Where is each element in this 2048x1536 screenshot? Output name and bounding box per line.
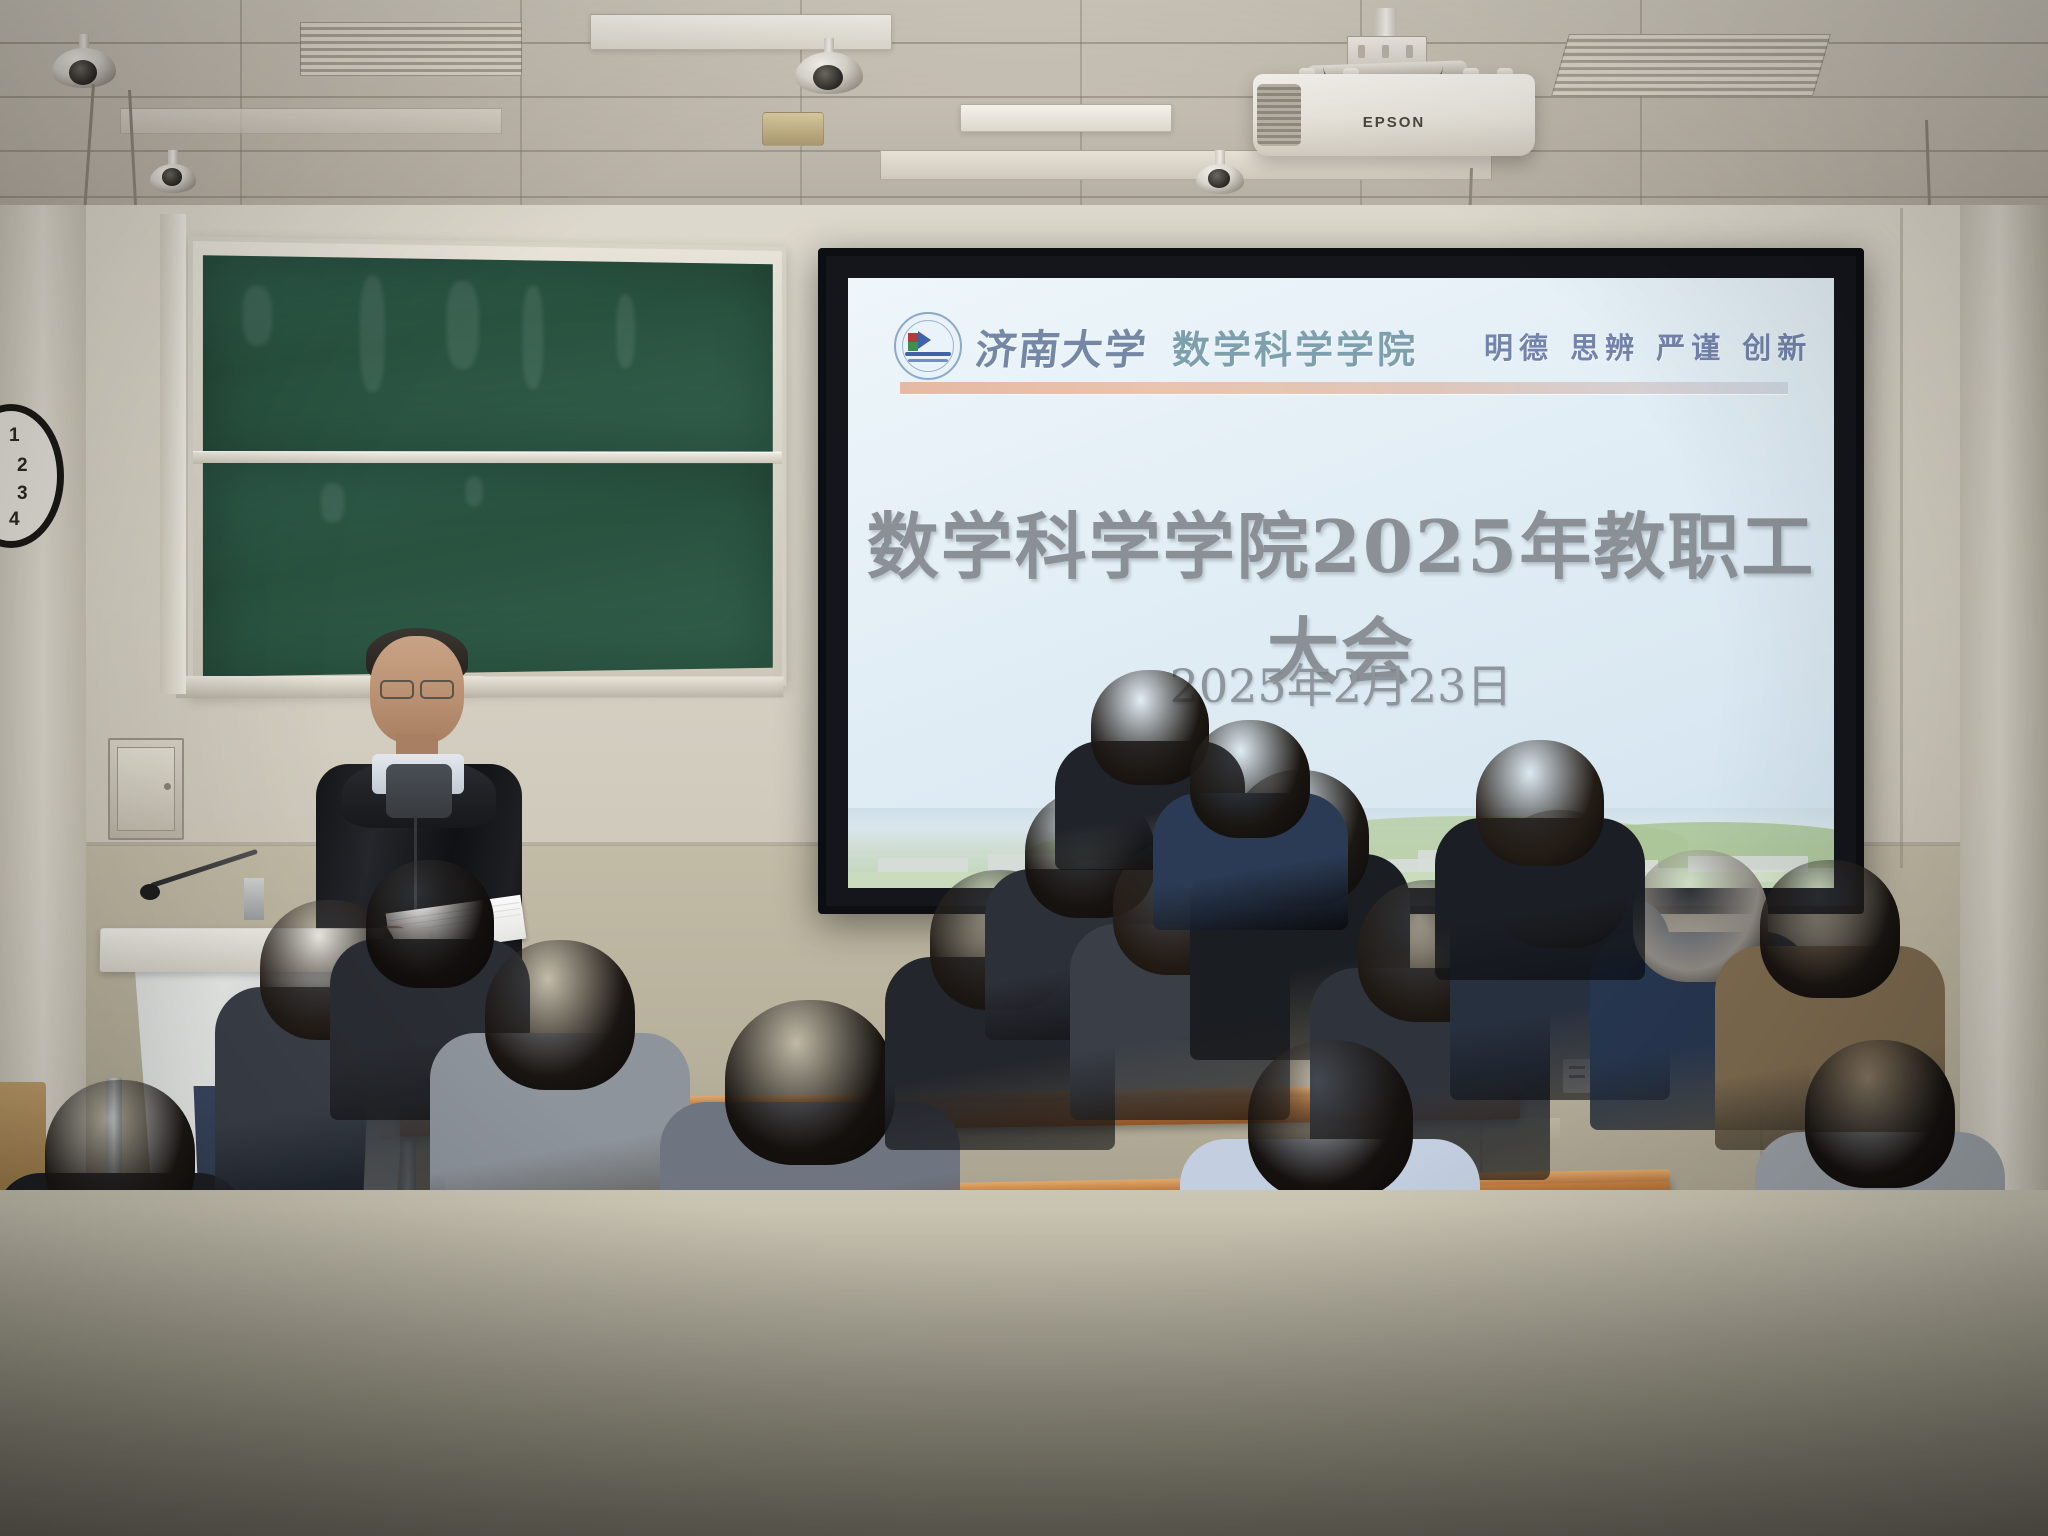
dome-camera-icon [795,38,863,102]
audience-member-head [1805,1040,1955,1188]
slide-header: 济南大学 数学科学学院 明德 思辨 严谨 创新 [848,308,1834,384]
wall-seam [1900,208,1903,868]
ceiling-light [960,104,1172,132]
ceiling-grid-line [240,0,242,206]
ceiling-vent [300,22,522,76]
clock-number: 3 [17,483,28,505]
audience-member-head [725,1000,895,1165]
electrical-panel-box [108,738,184,840]
slide-accent-bar [900,382,1788,394]
slide-university-name: 济南大学 [973,316,1151,376]
audience-member-head [485,940,635,1090]
ceiling-grid-line [0,96,2048,98]
slide-department-name: 数学科学学院 [1172,319,1418,374]
eyeglasses-icon [380,680,454,696]
audience-member-head [1760,860,1900,998]
projector-brand-label: EPSON [1253,114,1535,131]
blackboard-panel-upper [203,255,773,451]
dome-camera-icon [150,150,196,194]
blackboard-side-rail [160,214,186,694]
audience-member [1435,740,1645,980]
lecture-hall-photo: EPSON 1 2 3 4 5 [0,0,2048,1536]
blackboard [188,236,786,696]
slide-date: 2025年2月23日 [848,650,1834,716]
audience-member-head [1248,1040,1413,1200]
ceiling-beam [120,108,502,134]
dome-camera-icon [52,34,116,96]
slide-motto: 明德 思辨 严谨 创新 [1484,325,1812,367]
audience-member-head [1190,720,1310,838]
ceiling-speaker [762,112,824,146]
floor [0,1190,2048,1536]
ceiling-vent [1551,34,1831,96]
clock-number: 2 [17,455,28,477]
ceiling-grid-line [1640,0,1642,206]
university-seal-icon [894,312,962,380]
clock-number: 4 [9,509,20,531]
audience-member [1153,720,1348,930]
ceiling-grid-line [0,196,2048,198]
projector: EPSON [1235,8,1535,163]
audience-member-head [1476,740,1604,866]
projector-body: EPSON [1253,74,1535,156]
wall-pillar-left [0,205,86,1205]
clock-number: 1 [9,425,20,447]
speaker-scarf [386,764,452,818]
microphone-head-icon [140,884,160,900]
